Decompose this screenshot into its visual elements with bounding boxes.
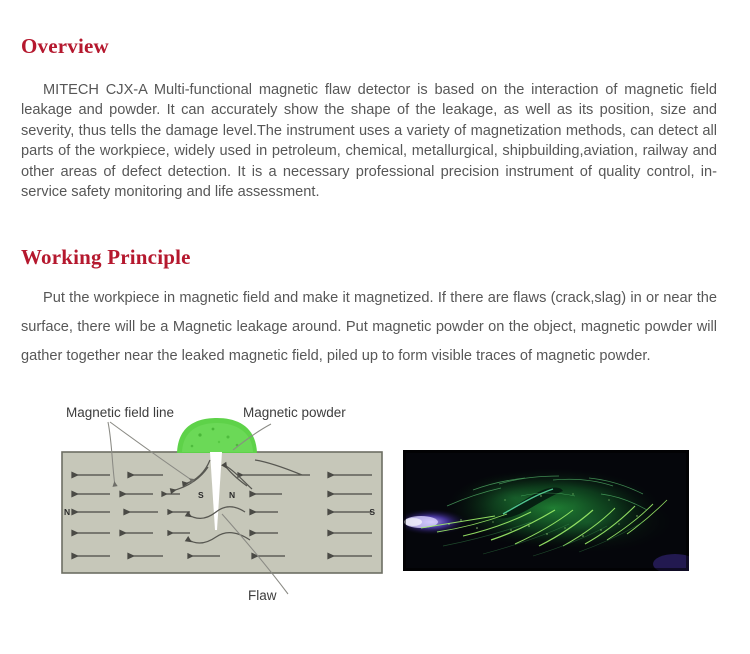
section-heading-working-principle: Working Principle (21, 245, 191, 270)
section-paragraph-overview: MITECH CJX-A Multi-functional magnetic f… (21, 80, 717, 203)
section-paragraph-working-principle: Put the workpiece in magnetic field and … (21, 284, 717, 371)
pole-label-crack-left: S (198, 490, 204, 500)
section-heading-overview: Overview (21, 34, 109, 59)
fluorescent-inspection-photo (403, 450, 689, 571)
pole-label-right: S (369, 507, 375, 517)
diagram-canvas: N S S N Magnetic field line Magnetic pow… (40, 390, 400, 605)
label-magnetic-field-line: Magnetic field line (66, 405, 174, 420)
document-page: Overview MITECH CJX-A Multi-functional m… (0, 0, 750, 654)
magnetic-powder-mound (177, 418, 257, 453)
label-flaw: Flaw (248, 588, 277, 603)
magnetic-leakage-diagram: N S S N Magnetic field line Magnetic pow… (40, 390, 400, 605)
label-magnetic-powder: Magnetic powder (243, 405, 346, 420)
pole-label-crack-right: N (229, 490, 235, 500)
pole-label-left: N (64, 507, 70, 517)
photo-canvas (403, 450, 689, 571)
